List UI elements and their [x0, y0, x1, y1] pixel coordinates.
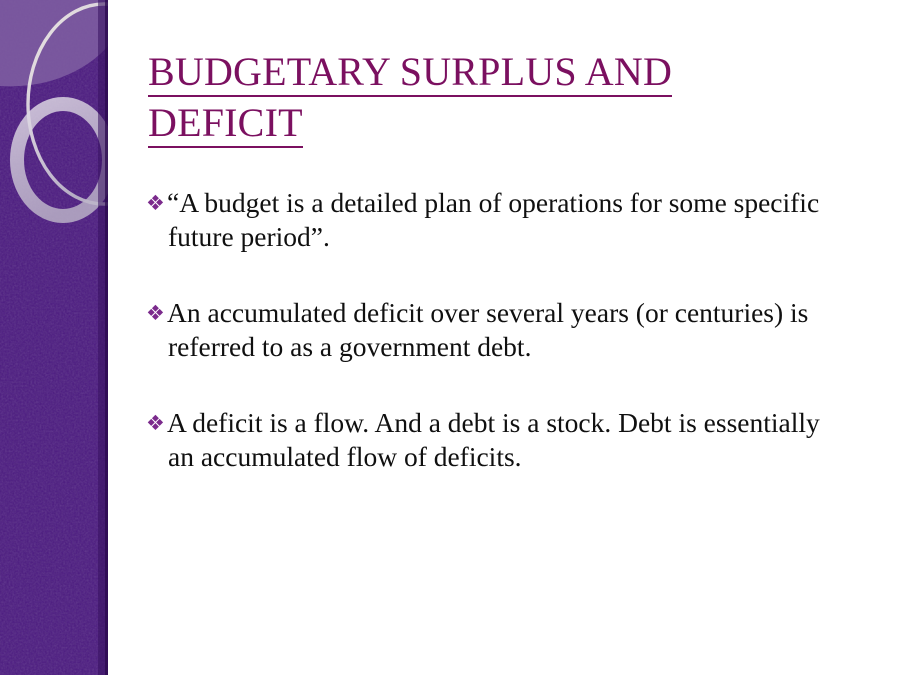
list-item-text: An accumulated deficit over several year…	[168, 296, 826, 364]
list-item: ❖ An accumulated deficit over several ye…	[146, 296, 826, 364]
floret-bullet-icon: ❖	[146, 296, 168, 330]
page-title-line-2: DEFICIT	[148, 100, 303, 148]
decorative-sidebar-band	[0, 0, 108, 675]
slide-title-block: BUDGETARY SURPLUS ANDDEFICIT	[148, 46, 808, 148]
list-item-text: A deficit is a flow. And a debt is a sto…	[168, 406, 826, 474]
list-item: ❖ A deficit is a flow. And a debt is a s…	[146, 406, 826, 474]
list-item-text: “A budget is a detailed plan of operatio…	[168, 186, 826, 254]
page-title: BUDGETARY SURPLUS ANDDEFICIT	[148, 46, 808, 148]
list-item: ❖ “A budget is a detailed plan of operat…	[146, 186, 826, 254]
floret-bullet-icon: ❖	[146, 186, 168, 220]
presentation-slide: BUDGETARY SURPLUS ANDDEFICIT ❖ “A budget…	[0, 0, 900, 675]
slide-body-content: ❖ “A budget is a detailed plan of operat…	[146, 186, 826, 474]
floret-bullet-icon: ❖	[146, 406, 168, 440]
page-title-line-1: BUDGETARY SURPLUS AND	[148, 49, 672, 97]
sidebar-decoration-graphic	[0, 0, 108, 675]
